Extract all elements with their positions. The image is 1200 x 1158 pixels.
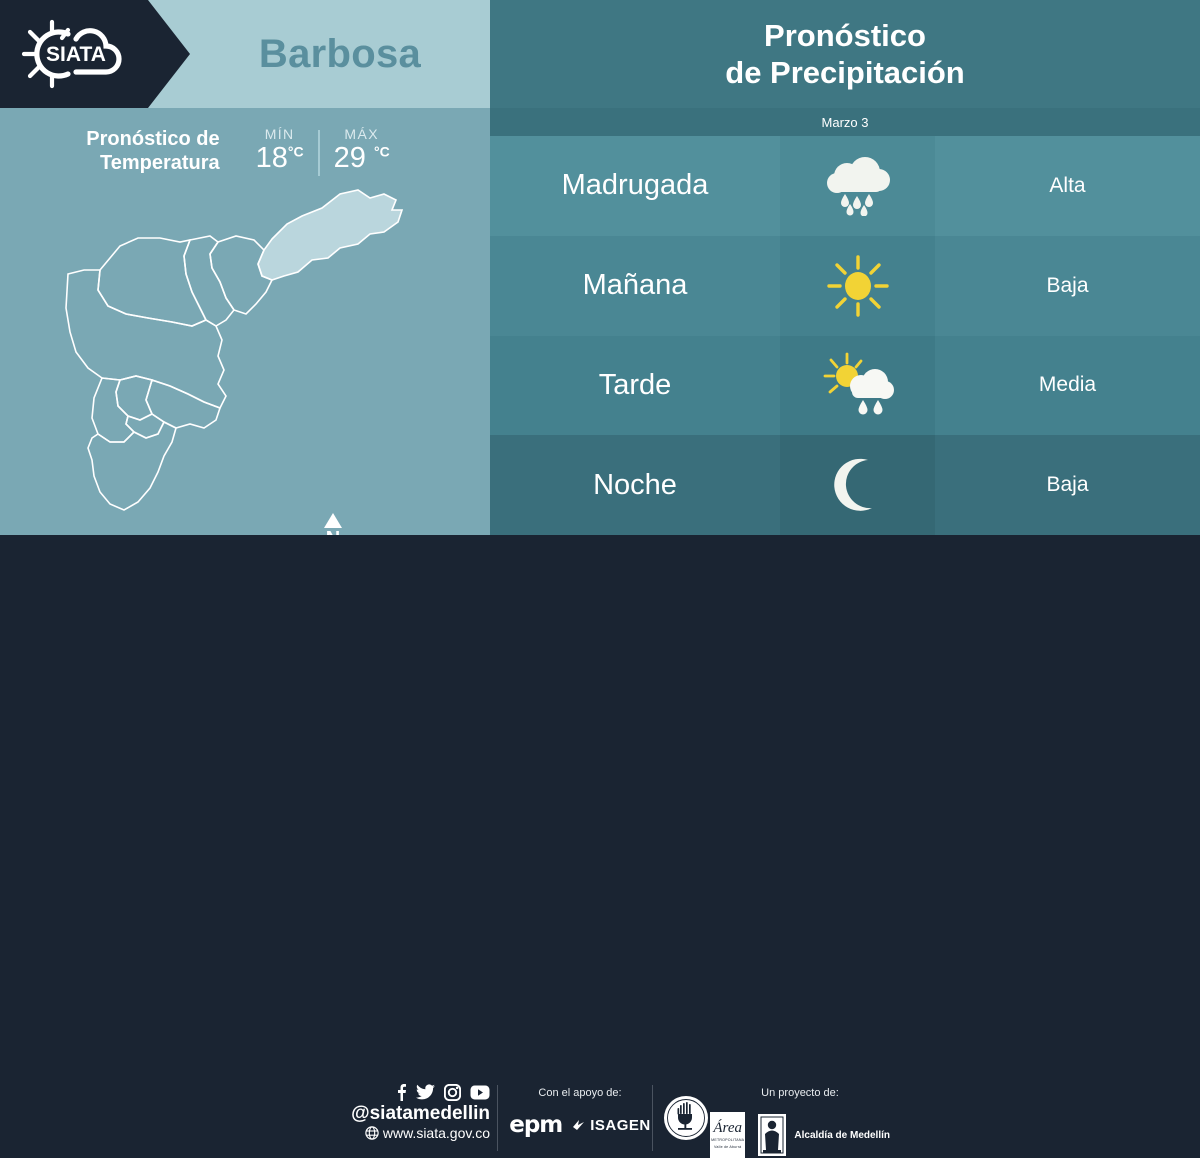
temperature-title-line2: Temperatura: [86, 151, 219, 175]
page-title: Barbosa: [190, 0, 490, 108]
temperature-max: MÁX 29 °C: [320, 126, 404, 173]
alcaldia-label: Alcaldía de Medellín: [794, 1130, 890, 1141]
period-label: Madrugada: [562, 169, 709, 202]
alcaldia-logo: Alcaldía de Medellín: [755, 1112, 890, 1158]
temperature-forecast: Pronóstico de Temperatura MÍN 18°C MÁX 2…: [0, 118, 490, 184]
map-region-medellin: [66, 270, 226, 408]
map-region-barbosa: [258, 190, 402, 280]
table-row: Mañana: [490, 236, 1200, 336]
temperature-title: Pronóstico de Temperatura: [86, 127, 219, 176]
max-label: MÁX: [344, 126, 379, 142]
probability-cell: Media: [935, 336, 1200, 436]
map-region-envigado: [146, 380, 220, 428]
max-value: 29 °C: [334, 144, 390, 173]
social-block: @siatamedellin www.siata.gov.co: [330, 1083, 490, 1142]
temperature-title-line1: Pronóstico de: [86, 127, 219, 151]
website-url: www.siata.gov.co: [383, 1125, 490, 1142]
probability-cell: Baja: [935, 236, 1200, 336]
table-row: Madrugada: [490, 136, 1200, 236]
social-handle[interactable]: @siatamedellin: [330, 1103, 490, 1125]
twitter-icon[interactable]: [416, 1084, 435, 1100]
period-label: Noche: [593, 469, 677, 502]
support-caption: Con el apoyo de:: [505, 1087, 655, 1099]
project-block: Un proyecto de: Área METROPOLITANA Valle…: [710, 1087, 890, 1158]
map-region-copacabana: [184, 236, 234, 326]
icon-cell: [780, 136, 935, 236]
left-header: SIATA Barbosa: [0, 0, 490, 108]
forecast-date-band: Marzo 3: [490, 108, 1200, 136]
probability-cell: Baja: [935, 435, 1200, 535]
table-row: Noche Baja: [490, 435, 1200, 535]
table-row: Tarde: [490, 336, 1200, 436]
precipitation-title-line1: Pronóstico: [764, 17, 926, 54]
area-sub-line2: Valle de Aburrá: [714, 1145, 741, 1149]
map-svg: [40, 180, 460, 530]
temperature-min: MÍN 18°C: [242, 126, 318, 173]
universidad-antioquia-seal-icon: [663, 1095, 709, 1141]
sun-cloud-icon: SIATA: [18, 14, 138, 94]
icon-cell: [780, 435, 935, 535]
support-block: Con el apoyo de: epm ISAGEN: [505, 1087, 655, 1138]
aburra-valley-map: N: [40, 180, 460, 530]
period-label: Mañana: [583, 269, 688, 302]
facebook-icon[interactable]: [396, 1083, 407, 1101]
min-value: 18°C: [256, 144, 304, 173]
forecast-date: Marzo 3: [822, 115, 869, 130]
map-region-itagui: [116, 376, 152, 420]
website-row[interactable]: www.siata.gov.co: [330, 1125, 490, 1142]
weather-forecast-infographic: SIATA Barbosa Pronóstico de Temperatura …: [0, 0, 1200, 630]
left-panel: SIATA Barbosa Pronóstico de Temperatura …: [0, 0, 490, 535]
precipitation-header: Pronóstico de Precipitación: [490, 0, 1200, 108]
epm-logo: epm: [509, 1112, 562, 1138]
support-logos: epm ISAGEN: [505, 1112, 655, 1138]
forecast-table: Madrugada: [490, 136, 1200, 535]
precipitation-title-line2: de Precipitación: [725, 54, 964, 91]
rain-cloud-icon: [821, 156, 895, 216]
area-sub-line1: METROPOLITANA: [711, 1138, 744, 1142]
footer: @siatamedellin www.siata.gov.co Con el a…: [0, 535, 1200, 630]
compass-arrow-icon: [324, 513, 342, 528]
area-script-text: Área: [713, 1121, 742, 1136]
sun-icon: [823, 253, 893, 319]
instagram-icon[interactable]: [444, 1084, 461, 1101]
probability-label: Baja: [1046, 473, 1088, 497]
period-cell: Mañana: [490, 236, 780, 336]
map-region-bello: [98, 238, 206, 326]
probability-label: Media: [1039, 373, 1096, 397]
isagen-logo: ISAGEN: [572, 1117, 651, 1134]
youtube-icon[interactable]: [470, 1085, 490, 1100]
period-cell: Noche: [490, 435, 780, 535]
moon-icon: [830, 456, 886, 514]
footer-divider-1: [497, 1085, 498, 1151]
probability-label: Alta: [1049, 174, 1085, 198]
max-unit: °C: [374, 143, 390, 159]
period-label: Tarde: [599, 369, 672, 402]
icon-cell: [780, 336, 935, 436]
social-icons: [330, 1083, 490, 1101]
min-label: MÍN: [265, 126, 295, 142]
logo-text: SIATA: [46, 43, 106, 66]
min-unit: °C: [288, 143, 304, 159]
area-metropolitana-logo: Área METROPOLITANA Valle de Aburrá: [710, 1112, 745, 1158]
map-region-caldas: [88, 422, 176, 510]
period-cell: Tarde: [490, 336, 780, 436]
probability-cell: Alta: [935, 136, 1200, 236]
isagen-label: ISAGEN: [590, 1117, 651, 1134]
footer-divider-2: [652, 1085, 653, 1151]
icon-cell: [780, 236, 935, 336]
probability-label: Baja: [1046, 274, 1088, 298]
sun-rain-cloud-icon: [819, 352, 897, 418]
globe-icon: [365, 1126, 379, 1140]
isagen-mark-icon: [572, 1118, 587, 1132]
alcaldia-shield-icon: [755, 1112, 789, 1158]
temperature-values: MÍN 18°C MÁX 29 °C: [242, 126, 404, 176]
right-panel: Pronóstico de Precipitación Marzo 3 Madr…: [490, 0, 1200, 535]
period-cell: Madrugada: [490, 136, 780, 236]
project-caption: Un proyecto de:: [710, 1087, 890, 1099]
project-logos: Área METROPOLITANA Valle de Aburrá: [710, 1112, 890, 1158]
siata-logo-badge: SIATA: [0, 0, 190, 108]
map-region-la-estrella: [92, 378, 134, 442]
